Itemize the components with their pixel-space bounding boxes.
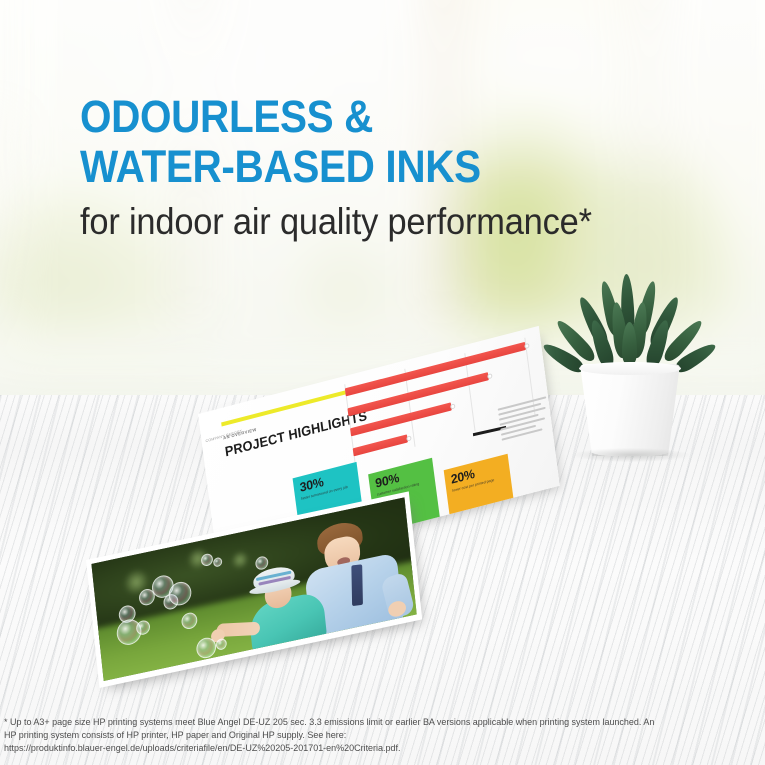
plant-shadow <box>572 448 690 462</box>
footnote-line-1: * Up to A3+ page size HP printing system… <box>4 716 735 729</box>
bar-2 <box>347 372 488 416</box>
subheadline: for indoor air quality performance* <box>80 200 675 244</box>
potted-plant <box>566 272 696 457</box>
bar-4-marker <box>406 435 411 441</box>
scene-canvas: ODOURLESS & WATER-BASED INKS for indoor … <box>0 0 765 765</box>
plant-pot <box>580 364 680 456</box>
headline-line-2: WATER-BASED INKS <box>80 142 656 192</box>
bar-2-marker <box>487 373 492 379</box>
chart-axis <box>464 353 475 431</box>
text-line <box>502 428 543 440</box>
headline-block: ODOURLESS & WATER-BASED INKS for indoor … <box>80 92 720 244</box>
plant-pot-rim <box>579 362 681 375</box>
child-back-tie <box>351 564 363 606</box>
bar-4 <box>353 434 408 456</box>
bar-3-marker <box>450 403 455 409</box>
footnote-block: * Up to A3+ page size HP printing system… <box>4 716 735 754</box>
bar-1-marker <box>524 343 529 349</box>
footnote-line-2: HP printing system consists of HP printe… <box>4 729 735 742</box>
footnote-line-3: https://produktinfo.blauer-engel.de/uplo… <box>4 742 735 755</box>
headline-line-1: ODOURLESS & <box>80 92 656 142</box>
